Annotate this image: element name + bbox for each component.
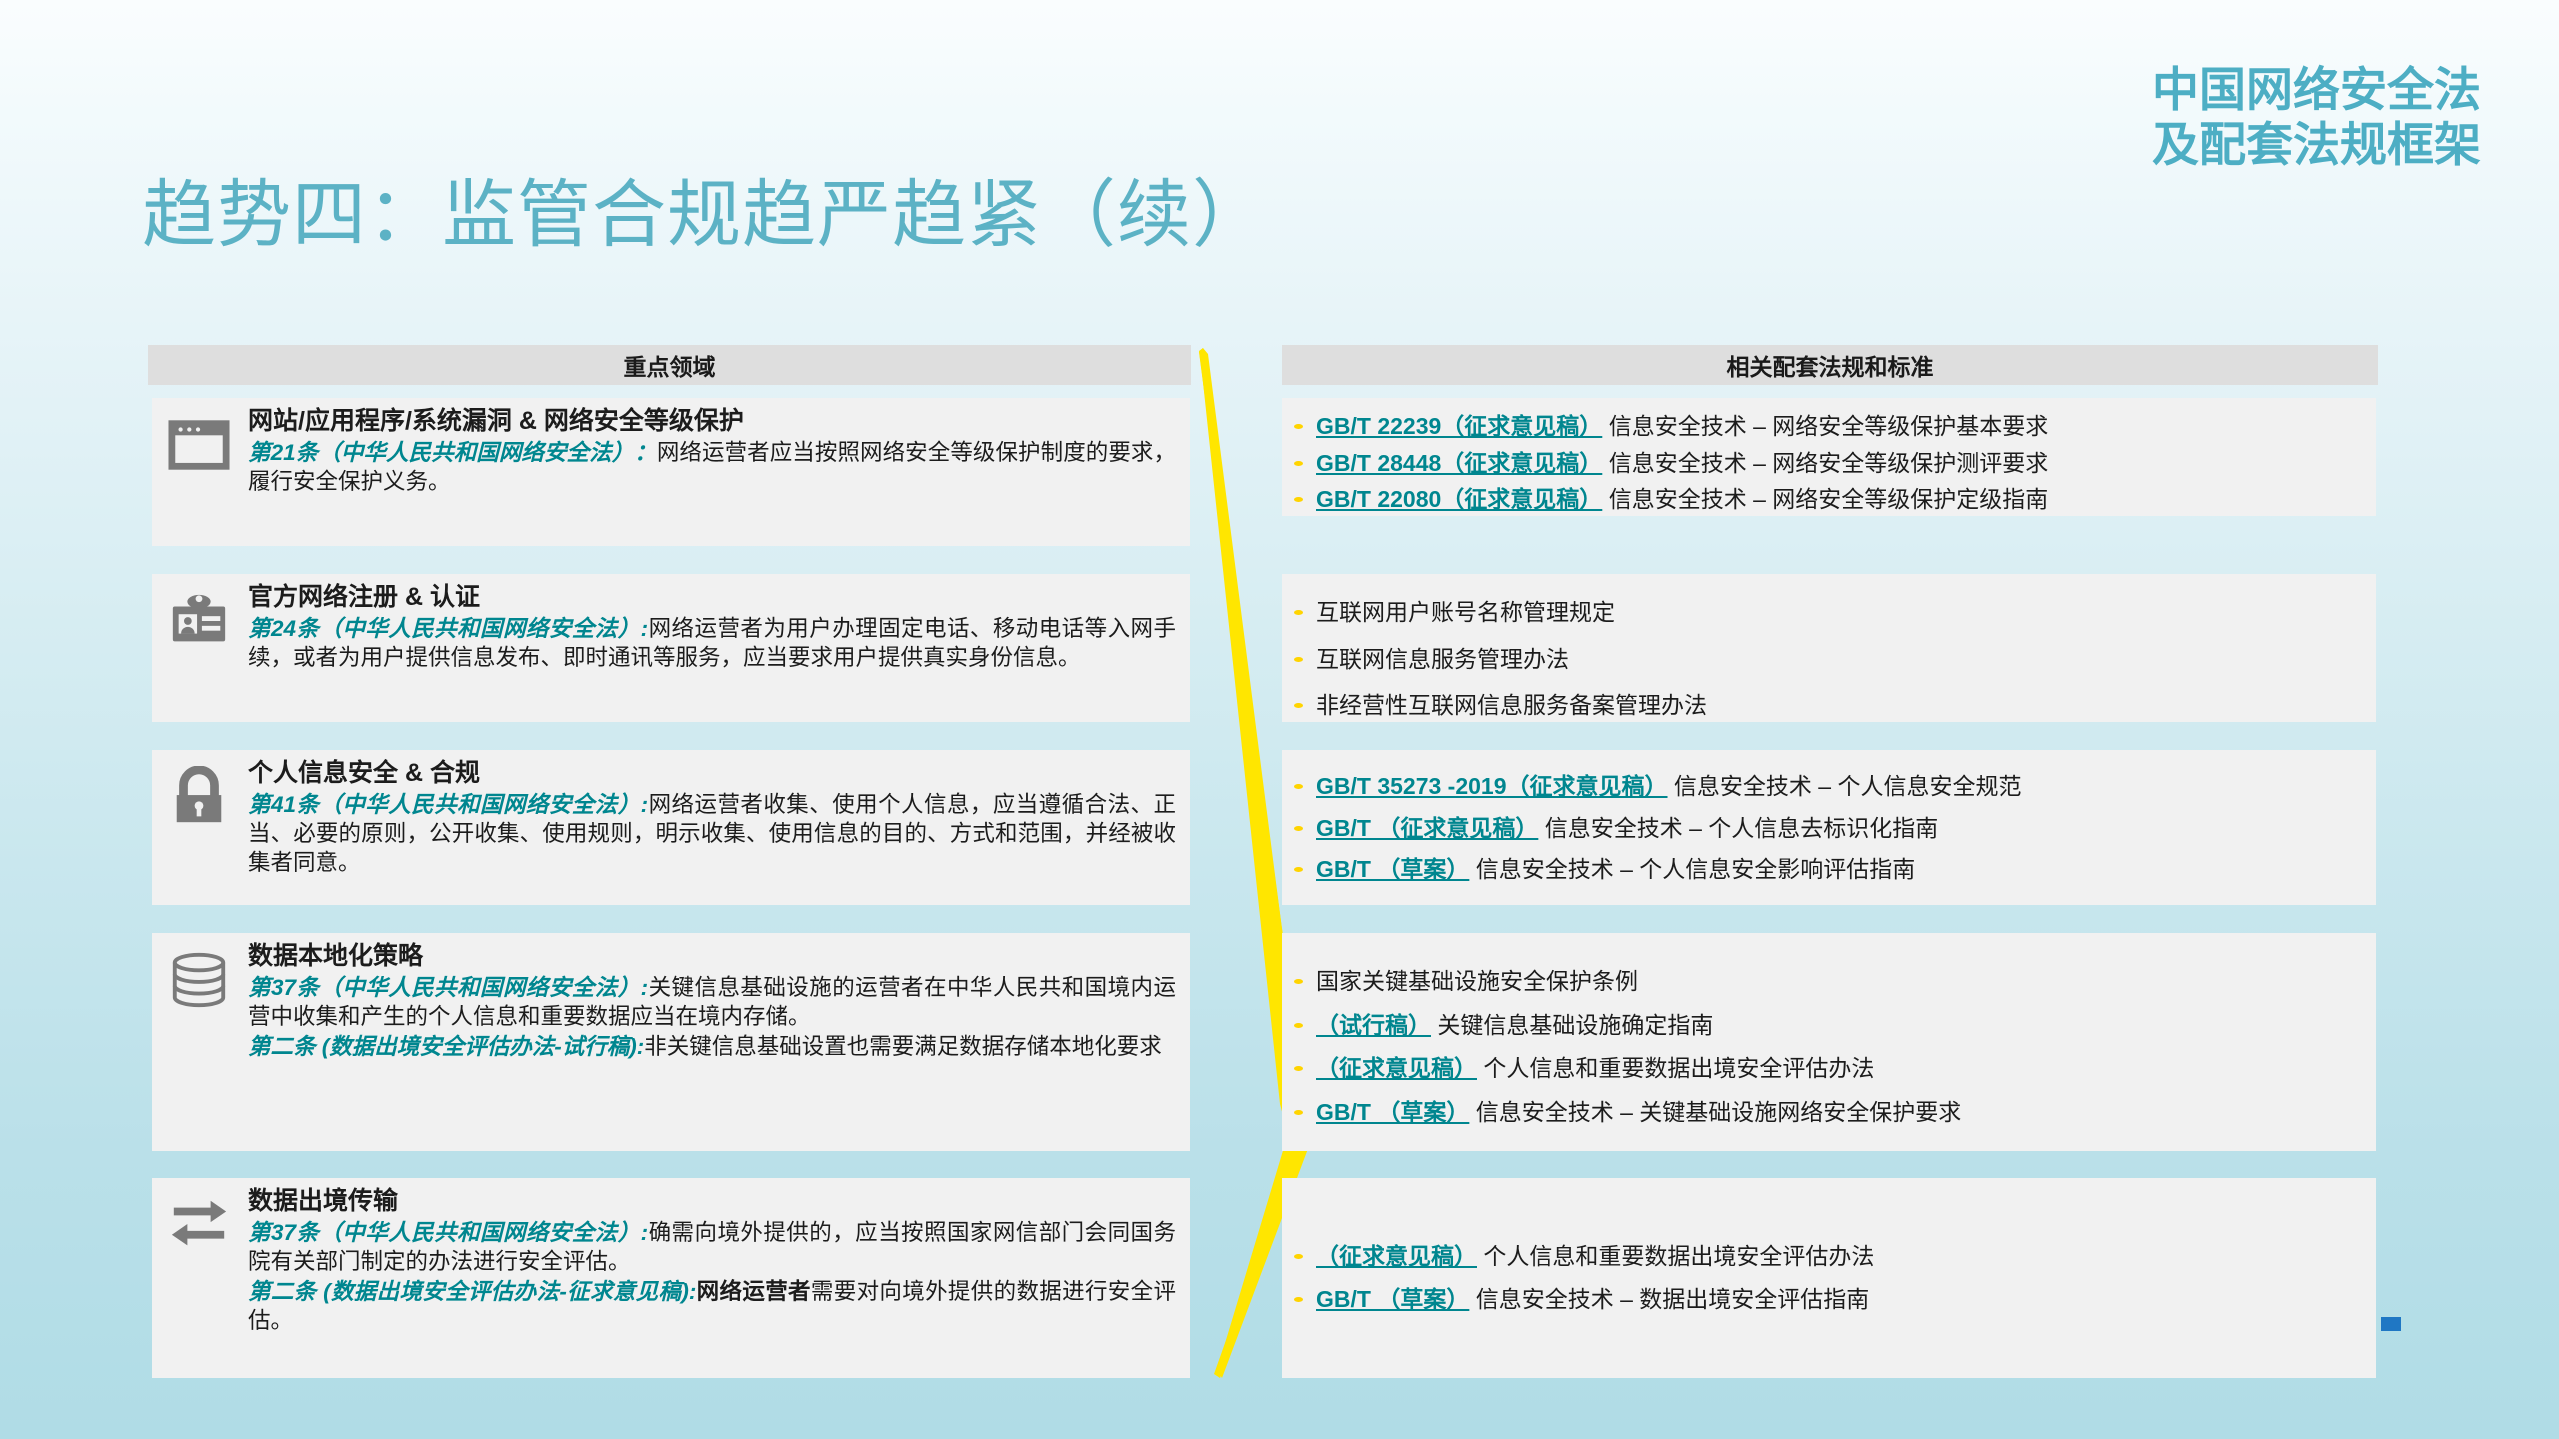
regulation-desc: 信息安全技术 – 个人信息去标识化指南 bbox=[1545, 815, 1939, 841]
regulation-link[interactable]: GB/T 22239（征求意见稿） bbox=[1316, 413, 1602, 439]
list-item[interactable]: 互联网用户账号名称管理规定 bbox=[1282, 596, 2376, 629]
blue-square-marker bbox=[2381, 1317, 2401, 1331]
regulation-desc: 国家关键基础设施安全保护条例 bbox=[1316, 968, 1638, 994]
regulation-list: 互联网用户账号名称管理规定 互联网信息服务管理办法 非经营性互联网信息服务备案管… bbox=[1282, 574, 2376, 722]
focus-area-card[interactable]: 官方网络注册 & 认证 第24条（中华人民共和国网络安全法）:网络运营者为用户办… bbox=[152, 574, 1190, 722]
regulation-desc: 信息安全技术 – 网络安全等级保护测评要求 bbox=[1609, 450, 2049, 476]
corner-title: 中国网络安全法 及配套法规框架 bbox=[2152, 62, 2481, 173]
regulation-link[interactable]: GB/T 35273 -2019（征求意见稿） bbox=[1316, 773, 1668, 799]
article-ref: 第37条（中华人民共和国网络安全法）: bbox=[248, 1220, 648, 1245]
article-ref-2: 第二条 (数据出境安全评估办法-征求意见稿): bbox=[248, 1279, 696, 1304]
article-ref-2: 第二条 (数据出境安全评估办法-试行稿): bbox=[248, 1034, 644, 1059]
data-transfer-icon bbox=[168, 1194, 230, 1256]
article-body-2-bold: 网络运营者 bbox=[696, 1279, 811, 1304]
list-item[interactable]: GB/T （草案） 信息安全技术 – 数据出境安全评估指南 bbox=[1282, 1283, 2376, 1316]
focus-area-card[interactable]: 网站/应用程序/系统漏洞 & 网络安全等级保护 第21条（中华人民共和国网络安全… bbox=[152, 398, 1190, 546]
article-ref: 第21条（中华人民共和国网络安全法）： bbox=[248, 440, 657, 465]
regulation-list: （征求意见稿） 个人信息和重要数据出境安全评估办法 GB/T （草案） 信息安全… bbox=[1282, 1178, 2376, 1315]
list-item[interactable]: GB/T 28448（征求意见稿） 信息安全技术 – 网络安全等级保护测评要求 bbox=[1282, 447, 2376, 480]
regulation-desc: 互联网信息服务管理办法 bbox=[1316, 646, 1569, 672]
regulation-link[interactable]: GB/T 28448（征求意见稿） bbox=[1316, 450, 1602, 476]
regulation-list: GB/T 22239（征求意见稿） 信息安全技术 – 网络安全等级保护基本要求 … bbox=[1282, 398, 2376, 516]
regulation-list: GB/T 35273 -2019（征求意见稿） 信息安全技术 – 个人信息安全规… bbox=[1282, 750, 2376, 886]
regulation-link[interactable]: GB/T （草案） bbox=[1316, 1099, 1469, 1125]
regulation-desc: 信息安全技术 – 个人信息安全影响评估指南 bbox=[1476, 856, 1916, 882]
browser-window-icon bbox=[168, 414, 230, 476]
id-card-icon bbox=[168, 590, 230, 652]
article-ref: 第24条（中华人民共和国网络安全法）: bbox=[248, 616, 648, 641]
list-item[interactable]: 互联网信息服务管理办法 bbox=[1282, 643, 2376, 676]
list-item[interactable]: GB/T 35273 -2019（征求意见稿） 信息安全技术 – 个人信息安全规… bbox=[1282, 770, 2376, 803]
regulation-link[interactable]: GB/T 22080（征求意见稿） bbox=[1316, 486, 1602, 512]
focus-area-card[interactable]: 数据出境传输 第37条（中华人民共和国网络安全法）:确需向境外提供的，应当按照国… bbox=[152, 1178, 1190, 1378]
list-item[interactable]: GB/T 22239（征求意见稿） 信息安全技术 – 网络安全等级保护基本要求 bbox=[1282, 410, 2376, 443]
regulation-desc: 个人信息和重要数据出境安全评估办法 bbox=[1483, 1243, 1874, 1269]
regulation-card[interactable]: GB/T 35273 -2019（征求意见稿） 信息安全技术 – 个人信息安全规… bbox=[1282, 750, 2376, 905]
focus-area-text: 第24条（中华人民共和国网络安全法）:网络运营者为用户办理固定电话、移动电话等入… bbox=[248, 614, 1176, 673]
regulation-link[interactable]: GB/T （征求意见稿） bbox=[1316, 815, 1538, 841]
focus-area-text-2: 第二条 (数据出境安全评估办法-试行稿):非关键信息基础设置也需要满足数据存储本… bbox=[248, 1032, 1176, 1061]
regulation-desc: 信息安全技术 – 网络安全等级保护基本要求 bbox=[1609, 413, 2049, 439]
regulation-card[interactable]: 互联网用户账号名称管理规定 互联网信息服务管理办法 非经营性互联网信息服务备案管… bbox=[1282, 574, 2376, 722]
list-item[interactable]: GB/T 22080（征求意见稿） 信息安全技术 – 网络安全等级保护定级指南 bbox=[1282, 483, 2376, 516]
list-item[interactable]: （征求意见稿） 个人信息和重要数据出境安全评估办法 bbox=[1282, 1240, 2376, 1273]
regulation-card[interactable]: 国家关键基础设施安全保护条例 （试行稿） 关键信息基础设施确定指南 （征求意见稿… bbox=[1282, 933, 2376, 1151]
list-item[interactable]: （征求意见稿） 个人信息和重要数据出境安全评估办法 bbox=[1282, 1052, 2376, 1085]
focus-area-text: 第41条（中华人民共和国网络安全法）:网络运营者收集、使用个人信息，应当遵循合法… bbox=[248, 790, 1176, 878]
focus-area-text: 第37条（中华人民共和国网络安全法）:确需向境外提供的，应当按照国家网信部门会同… bbox=[248, 1218, 1176, 1277]
page-title: 趋势四：监管合规趋严趋紧（续） bbox=[142, 178, 1267, 252]
focus-area-text: 第21条（中华人民共和国网络安全法）：网络运营者应当按照网络安全等级保护制度的要… bbox=[248, 438, 1176, 497]
regulation-card[interactable]: （征求意见稿） 个人信息和重要数据出境安全评估办法 GB/T （草案） 信息安全… bbox=[1282, 1178, 2376, 1378]
article-ref: 第41条（中华人民共和国网络安全法）: bbox=[248, 792, 648, 817]
focus-area-text-2: 第二条 (数据出境安全评估办法-征求意见稿):网络运营者需要对向境外提供的数据进… bbox=[248, 1277, 1176, 1336]
regulation-link[interactable]: （征求意见稿） bbox=[1316, 1055, 1477, 1081]
regulation-desc: 关键信息基础设施确定指南 bbox=[1437, 1012, 1713, 1038]
database-icon bbox=[168, 949, 230, 1011]
regulation-link[interactable]: GB/T （草案） bbox=[1316, 856, 1469, 882]
focus-area-title: 数据本地化策略 bbox=[248, 941, 1176, 972]
regulation-desc: 互联网用户账号名称管理规定 bbox=[1316, 599, 1615, 625]
regulation-desc: 信息安全技术 – 数据出境安全评估指南 bbox=[1476, 1286, 1870, 1312]
list-item[interactable]: GB/T （草案） 信息安全技术 – 个人信息安全影响评估指南 bbox=[1282, 853, 2376, 886]
regulation-list: 国家关键基础设施安全保护条例 （试行稿） 关键信息基础设施确定指南 （征求意见稿… bbox=[1282, 933, 2376, 1129]
regulation-desc: 信息安全技术 – 关键基础设施网络安全保护要求 bbox=[1476, 1099, 1962, 1125]
focus-area-title: 官方网络注册 & 认证 bbox=[248, 582, 1176, 613]
regulation-desc: 信息安全技术 – 网络安全等级保护定级指南 bbox=[1609, 486, 2049, 512]
column-header-focus-areas: 重点领域 bbox=[148, 345, 1191, 385]
focus-area-title: 数据出境传输 bbox=[248, 1186, 1176, 1217]
focus-area-title: 网站/应用程序/系统漏洞 & 网络安全等级保护 bbox=[248, 406, 1176, 437]
list-item[interactable]: 非经营性互联网信息服务备案管理办法 bbox=[1282, 689, 2376, 722]
focus-area-text: 第37条（中华人民共和国网络安全法）:关键信息基础设施的运营者在中华人民共和国境… bbox=[248, 973, 1176, 1032]
regulation-desc: 信息安全技术 – 个人信息安全规范 bbox=[1674, 773, 2022, 799]
article-body-2: 非关键信息基础设置也需要满足数据存储本地化要求 bbox=[644, 1034, 1162, 1059]
regulation-link[interactable]: （征求意见稿） bbox=[1316, 1243, 1477, 1269]
corner-title-line2: 及配套法规框架 bbox=[2152, 117, 2481, 172]
regulation-desc: 个人信息和重要数据出境安全评估办法 bbox=[1483, 1055, 1874, 1081]
list-item[interactable]: （试行稿） 关键信息基础设施确定指南 bbox=[1282, 1009, 2376, 1042]
regulation-link[interactable]: （试行稿） bbox=[1316, 1012, 1431, 1038]
list-item[interactable]: GB/T （草案） 信息安全技术 – 关键基础设施网络安全保护要求 bbox=[1282, 1096, 2376, 1129]
list-item[interactable]: 国家关键基础设施安全保护条例 bbox=[1282, 965, 2376, 998]
regulation-link[interactable]: GB/T （草案） bbox=[1316, 1286, 1469, 1312]
regulation-desc: 非经营性互联网信息服务备案管理办法 bbox=[1316, 692, 1707, 718]
padlock-icon bbox=[168, 766, 230, 828]
column-header-regulations: 相关配套法规和标准 bbox=[1282, 345, 2378, 385]
focus-area-card[interactable]: 数据本地化策略 第37条（中华人民共和国网络安全法）:关键信息基础设施的运营者在… bbox=[152, 933, 1190, 1151]
focus-area-card[interactable]: 个人信息安全 & 合规 第41条（中华人民共和国网络安全法）:网络运营者收集、使… bbox=[152, 750, 1190, 905]
article-ref: 第37条（中华人民共和国网络安全法）: bbox=[248, 975, 648, 1000]
regulation-card[interactable]: GB/T 22239（征求意见稿） 信息安全技术 – 网络安全等级保护基本要求 … bbox=[1282, 398, 2376, 516]
list-item[interactable]: GB/T （征求意见稿） 信息安全技术 – 个人信息去标识化指南 bbox=[1282, 812, 2376, 845]
corner-title-line1: 中国网络安全法 bbox=[2152, 62, 2481, 117]
focus-area-title: 个人信息安全 & 合规 bbox=[248, 758, 1176, 789]
